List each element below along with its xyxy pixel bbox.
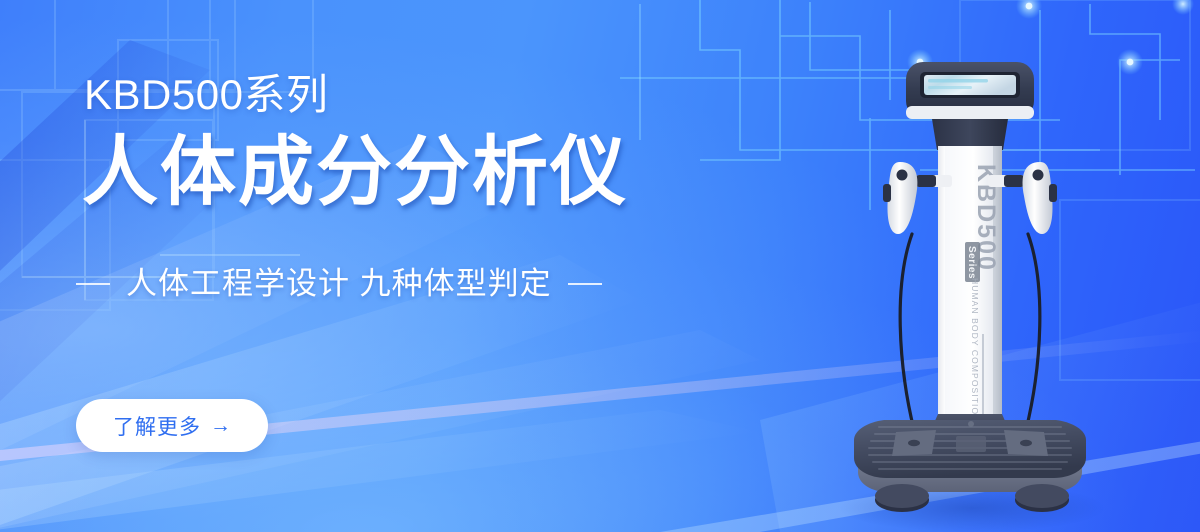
device-screen (924, 75, 1016, 95)
subtitle-text: 人体工程学设计 九种体型判定 (126, 268, 552, 299)
device-platform (854, 420, 1086, 492)
arrow-right-icon: → (210, 415, 231, 436)
hero-text-block: KBD500系列 人体成分分析仪 人体工程学设计 九种体型判定 了解更多 → (0, 0, 700, 532)
subtitle-dash-left (76, 283, 110, 285)
subtitle-dash-right (568, 283, 602, 285)
page-title: 人体成分分析仪 (82, 135, 628, 211)
feature-subtitle: 人体工程学设计 九种体型判定 (76, 268, 602, 299)
device-series-badge: Series (965, 242, 980, 282)
device-display-head (906, 62, 1034, 119)
device-handle-left (883, 162, 917, 234)
device-neck (932, 119, 1008, 150)
device-handle-right (1023, 162, 1057, 234)
product-hero-banner: KBD500系列 人体成分分析仪 人体工程学设计 九种体型判定 了解更多 → (0, 0, 1200, 532)
learn-more-button[interactable]: 了解更多 → (76, 399, 268, 452)
product-series-label: KBD500系列 (84, 74, 328, 116)
product-device-image: KBD500 Series HUMAN BODY COMPOSITION ANA… (820, 34, 1120, 532)
learn-more-label: 了解更多 (113, 411, 201, 441)
svg-text:Series: Series (966, 246, 977, 279)
